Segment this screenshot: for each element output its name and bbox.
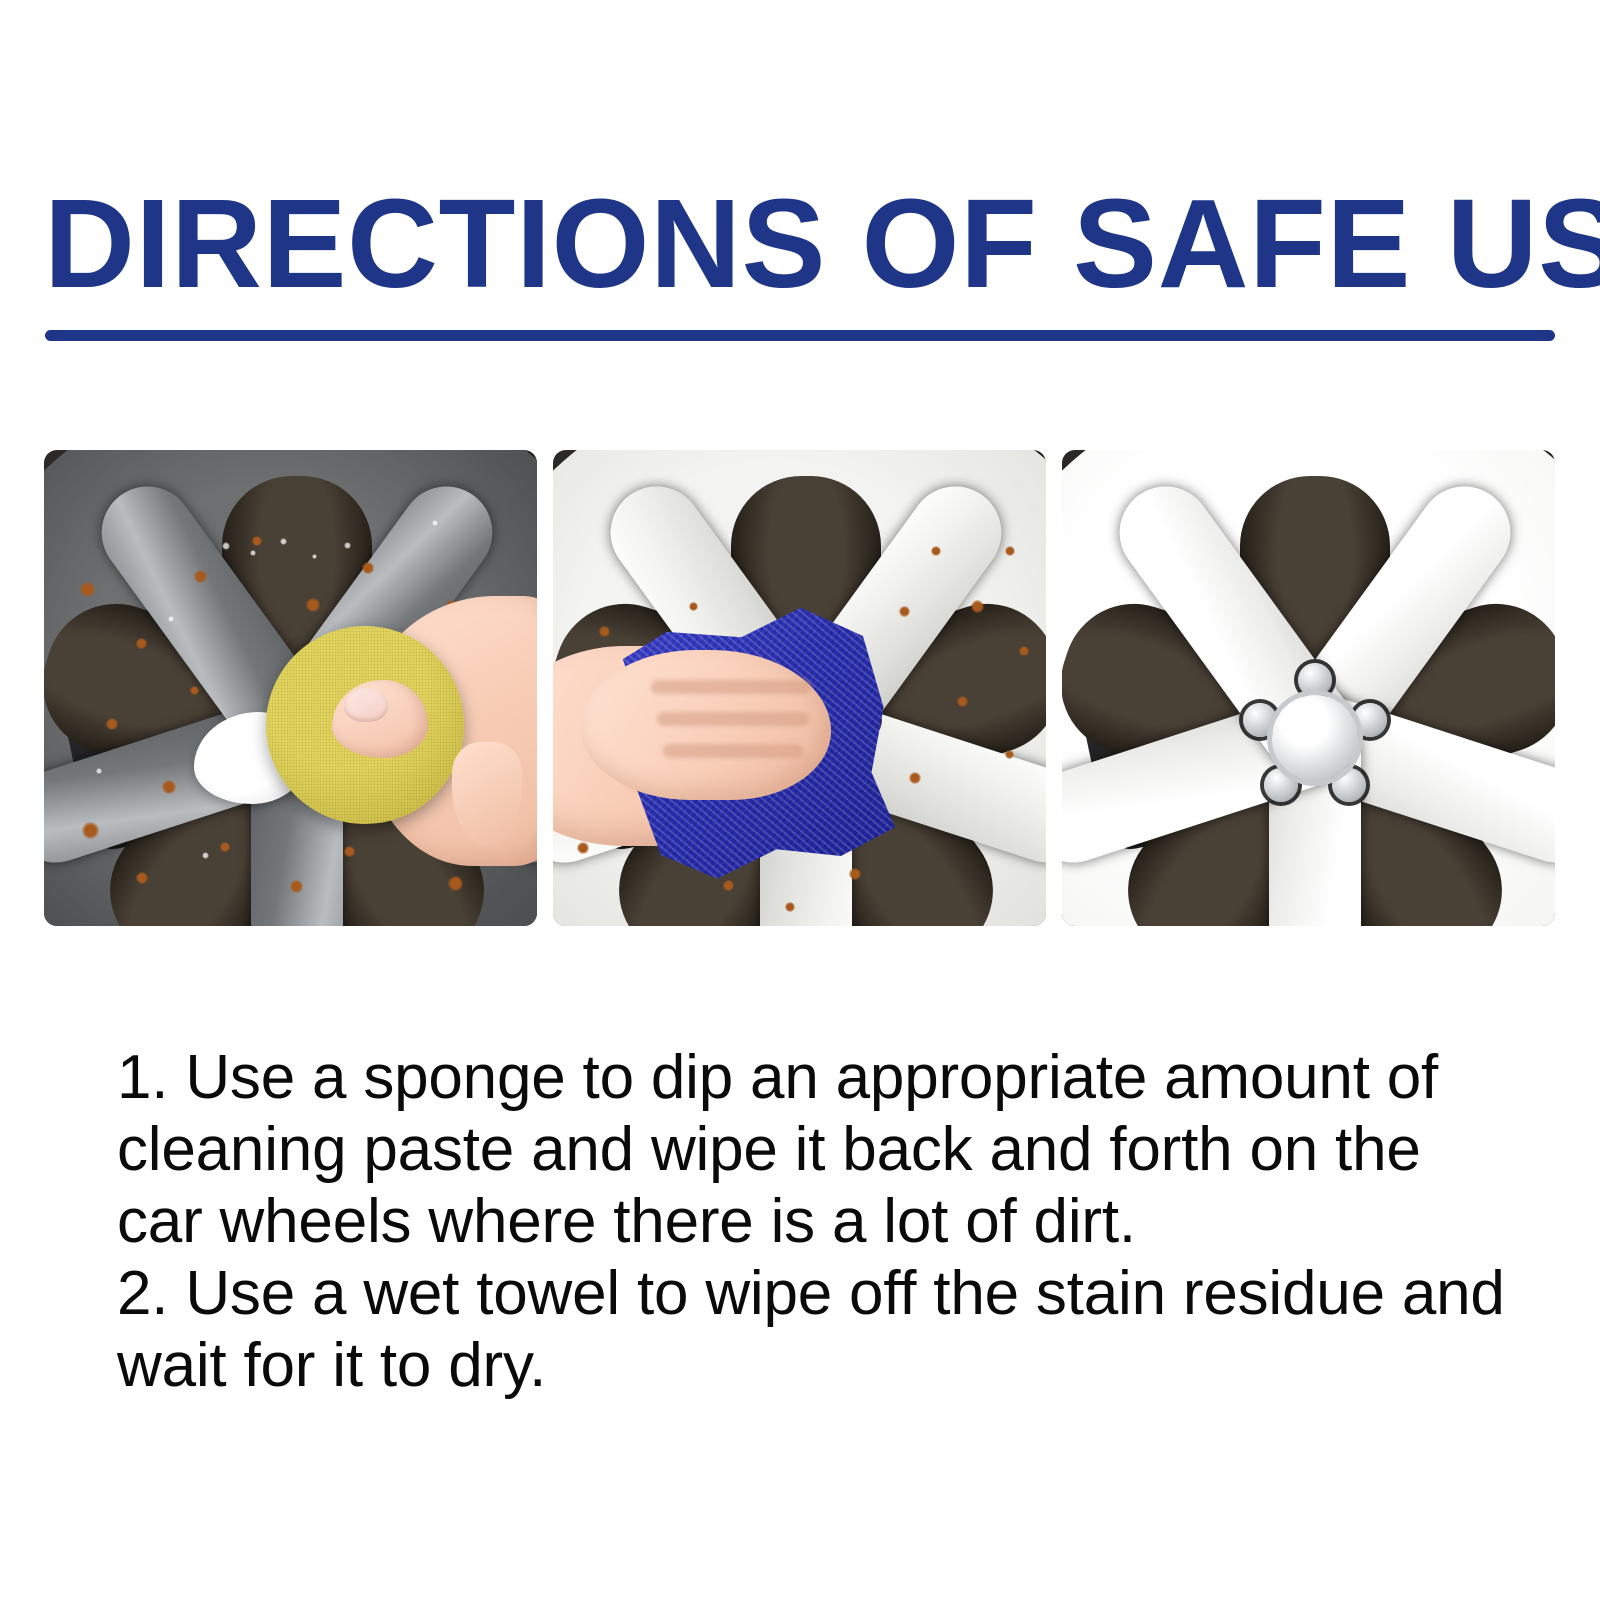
lug-nut-3a xyxy=(1298,663,1332,697)
lug-nut-3b xyxy=(1353,703,1387,737)
step-photo-1 xyxy=(44,450,537,926)
title-divider xyxy=(45,330,1555,341)
hand-fingers-on-towel xyxy=(581,650,831,800)
product-infographic-page: DIRECTIONS OF SAFE USE xyxy=(0,0,1600,1600)
hub-center-cap-3 xyxy=(1272,695,1358,781)
steps-gallery xyxy=(44,450,1556,926)
instruction-step-2: 2. Use a wet towel to wipe off the stain… xyxy=(117,1258,1517,1402)
page-title: DIRECTIONS OF SAFE USE xyxy=(44,184,1559,304)
wheel-scene-dirty xyxy=(44,450,537,926)
thumbnail-1 xyxy=(344,688,388,722)
step-photo-2 xyxy=(553,450,1046,926)
instructions-block: 1. Use a sponge to dip an appropriate am… xyxy=(117,1042,1517,1402)
wheel-hub-3 xyxy=(1230,653,1400,823)
wheel-rim-3 xyxy=(1062,450,1555,926)
instruction-step-1: 1. Use a sponge to dip an appropriate am… xyxy=(117,1042,1517,1258)
step-photo-3 xyxy=(1062,450,1555,926)
wheel-scene-partially-clean xyxy=(553,450,1046,926)
wheel-scene-clean xyxy=(1062,450,1555,926)
